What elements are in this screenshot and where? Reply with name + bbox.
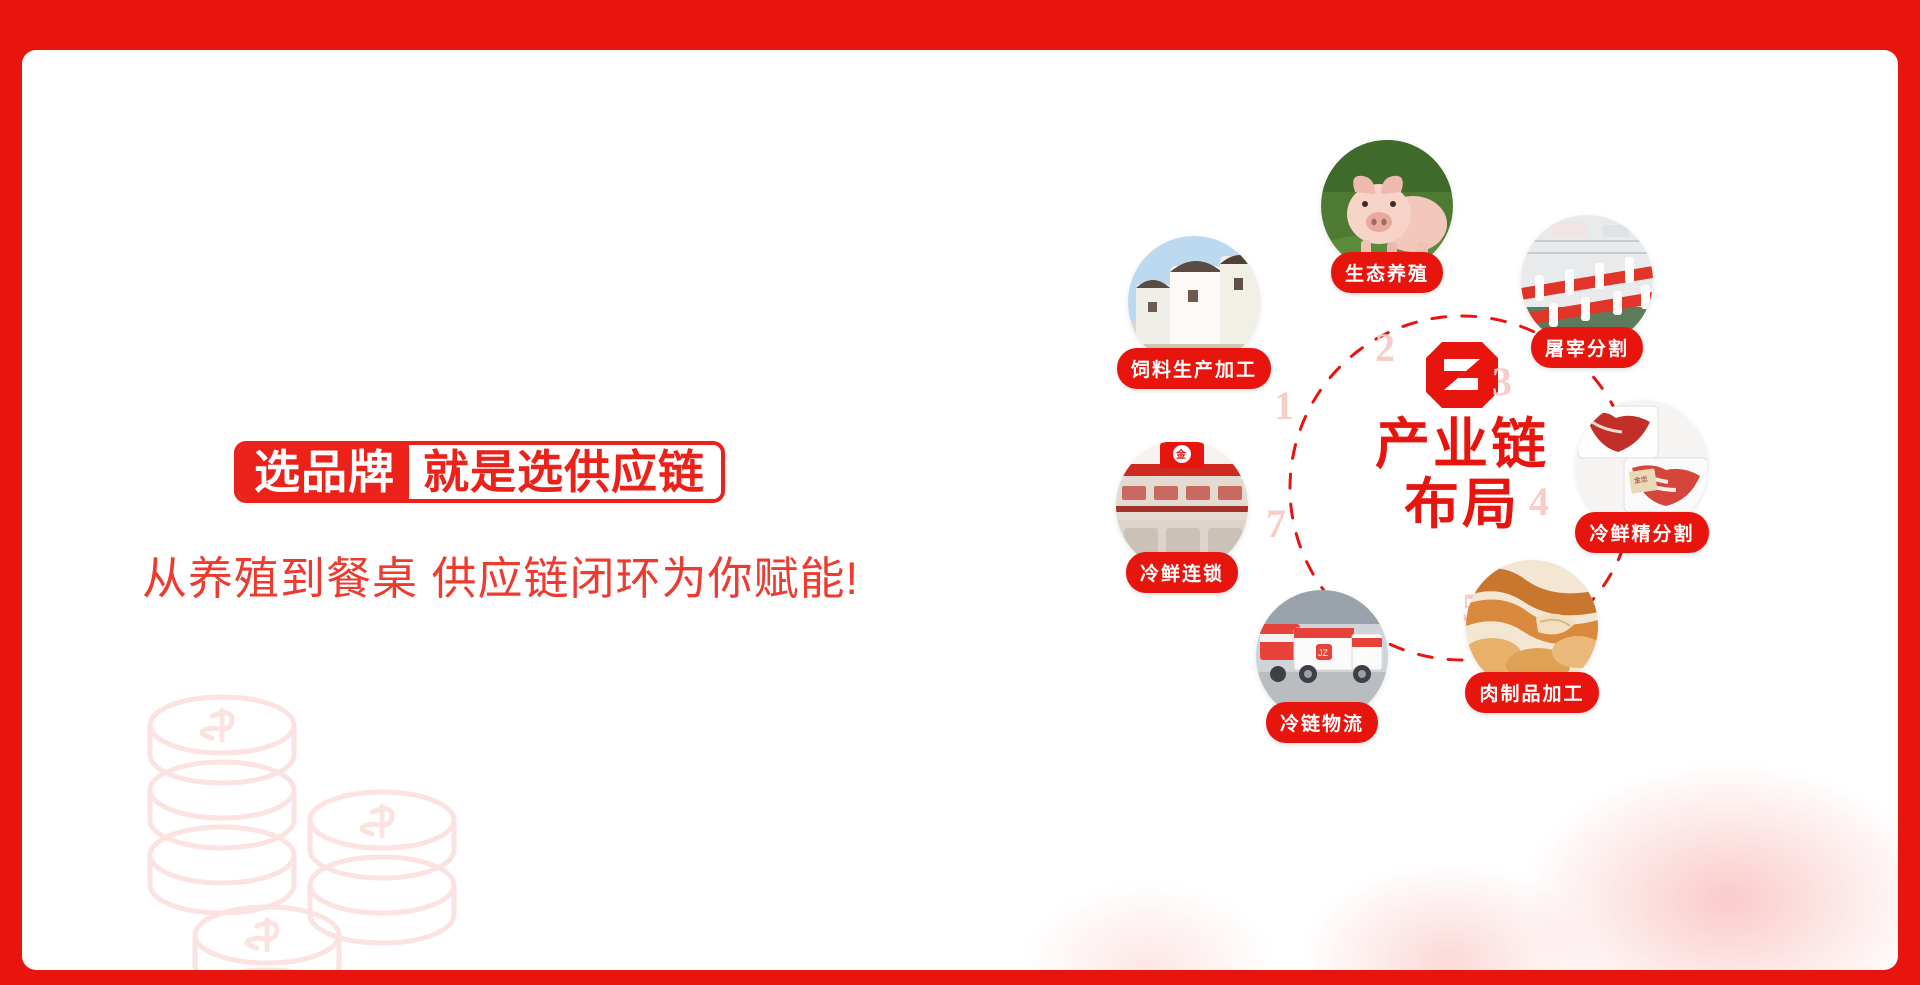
node-chilled-retail-chain[interactable]: 金 — [1092, 440, 1272, 593]
jinzhong-brand-logo-icon — [1424, 340, 1500, 410]
node-label-chilled-retail-chain: 冷鲜连锁 — [1126, 552, 1238, 593]
node-slaughter-cutting[interactable]: 屠宰分割 — [1497, 215, 1677, 368]
node-label-cold-chain-logistics: 冷链物流 — [1266, 702, 1378, 743]
node-feed-production[interactable]: 饲料生产加工 — [1094, 236, 1294, 389]
headline-secondary-segment: 就是选供应链 — [409, 445, 721, 499]
page-title: 选品牌 就是选供应链 — [234, 441, 725, 503]
node-label-chilled-precision-cutting: 冷鲜精分割 — [1575, 512, 1708, 553]
step-number-2: 2 — [1375, 328, 1395, 368]
node-eco-breeding[interactable]: 生态养殖 — [1297, 140, 1477, 293]
node-cold-chain-logistics[interactable]: JZ 冷链物流 — [1232, 590, 1412, 743]
node-chilled-precision-cutting[interactable]: 金忠 冷鲜精分割 — [1542, 400, 1742, 553]
node-label-eco-breeding: 生态养殖 — [1331, 252, 1443, 293]
supply-chain-diagram: 产业链 布局 1 2 3 4 5 6 7 — [1042, 90, 1882, 930]
svg-text:金: 金 — [1175, 448, 1187, 461]
node-meat-product-processing[interactable]: 肉制品加工 — [1442, 560, 1622, 713]
step-number-3: 3 — [1492, 362, 1512, 402]
node-label-slaughter-cutting: 屠宰分割 — [1531, 327, 1643, 368]
coin-stack-watermark-icon — [117, 680, 537, 970]
headline-primary-segment: 选品牌 — [238, 445, 409, 499]
node-label-meat-product-processing: 肉制品加工 — [1465, 672, 1598, 713]
banner-card: 选品牌 就是选供应链 从养殖到餐桌 供应链闭环为你赋能! 产业链 布局 1 2 … — [22, 50, 1898, 970]
svg-text:JZ: JZ — [1318, 648, 1329, 658]
node-label-feed-production: 饲料生产加工 — [1117, 348, 1271, 389]
step-number-1: 1 — [1274, 386, 1294, 426]
subheadline: 从养殖到餐桌 供应链闭环为你赋能! — [142, 542, 859, 607]
